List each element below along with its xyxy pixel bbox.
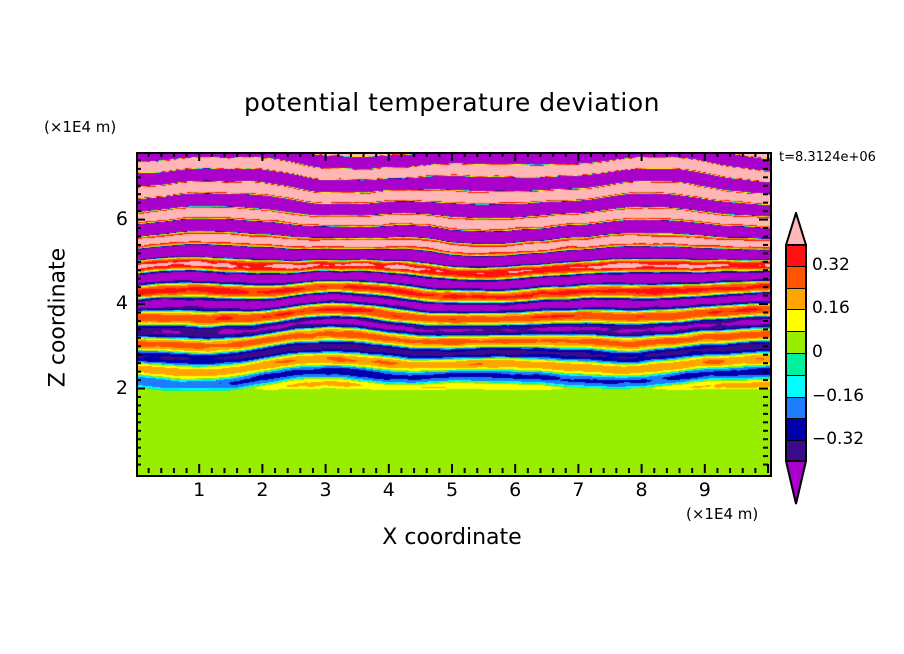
colorbar	[785, 244, 807, 462]
page-title: potential temperature deviation	[0, 88, 904, 117]
contour-plot-area	[136, 152, 772, 477]
colorbar-tick-label: −0.32	[812, 429, 864, 449]
colorbar-tick-label: −0.16	[812, 386, 864, 406]
x-tick-label: 1	[187, 479, 211, 501]
colorbar-over-arrow-icon	[785, 212, 807, 245]
x-tick-label: 6	[503, 479, 527, 501]
x-tick-label: 4	[377, 479, 401, 501]
x-tick-label: 2	[250, 479, 274, 501]
y-tick-label: 4	[106, 292, 128, 314]
colorbar-border	[785, 244, 807, 462]
y-axis-title: Z coordinate	[46, 233, 71, 403]
x-tick-label: 3	[314, 479, 338, 501]
time-annotation: t=8.3124e+06	[779, 150, 876, 165]
x-axis-unit-label: (×1E4 m)	[686, 505, 758, 523]
colorbar-tick-label: 0	[812, 342, 823, 362]
y-tick-label: 6	[106, 208, 128, 230]
x-tick-label: 9	[693, 479, 717, 501]
figure-root: potential temperature deviation (×1E4 m)…	[0, 0, 904, 654]
x-tick-label: 5	[440, 479, 464, 501]
colorbar-tick-label: 0.32	[812, 255, 850, 275]
contour-field-canvas	[138, 154, 770, 475]
y-tick-label: 2	[106, 377, 128, 399]
colorbar-tick-label: 0.16	[812, 298, 850, 318]
x-tick-label: 8	[630, 479, 654, 501]
colorbar-under-arrow-icon	[785, 461, 807, 505]
y-axis-unit-label: (×1E4 m)	[44, 118, 116, 136]
x-tick-label: 7	[566, 479, 590, 501]
x-axis-title: X coordinate	[0, 525, 904, 550]
